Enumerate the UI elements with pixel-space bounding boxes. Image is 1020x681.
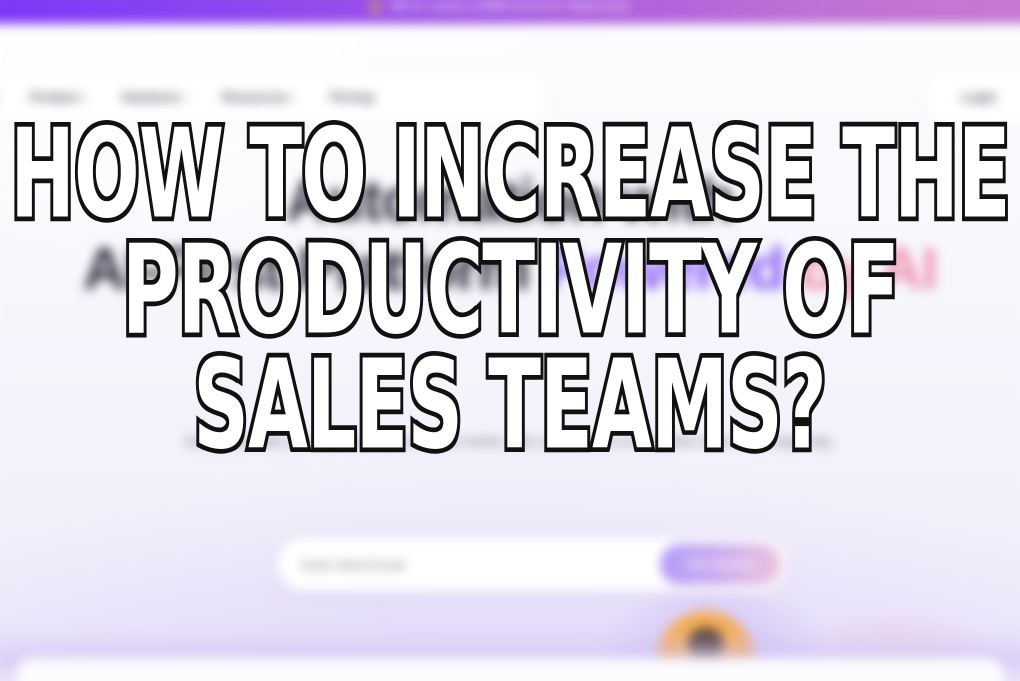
hero-heading-word: Automation [286,168,604,234]
nav-item-solutions[interactable]: Solutions ▾ [121,90,187,104]
sparkle-dot-icon [370,0,383,13]
login-button[interactable]: Login [926,69,1020,126]
hero-subheading: Easily automate your sales and go-to-mar… [102,430,918,454]
hero-heading-word: with [620,168,734,234]
email-capture-form: Get Started [277,538,787,591]
nav-item-pricing[interactable]: Pricing [330,90,373,104]
hero-heading-accent-violet: Powered [545,236,784,302]
nav-item-label: Solutions [121,90,179,104]
chevron-down-icon: ▾ [184,93,188,102]
blurred-webpage-background: We've raised a $25M Series B. Read more … [0,0,1020,681]
announcement-bar[interactable]: We've raised a $25M Series B. Read more … [0,0,1020,24]
nav-item-label: Pricing [330,90,373,104]
nav-item-resources[interactable]: Resources ▾ [222,90,295,104]
hero-heading: Automation with AI-First Platform Powere… [0,167,1020,304]
nav-item-label: Resources [222,90,287,104]
hero-heading-line-1: Automation with [0,167,1020,236]
product-screenshot-card [16,658,1003,681]
login-label: Login [962,90,997,104]
chevron-down-icon: ▾ [292,93,296,102]
thumbnail-canvas: We've raised a $25M Series B. Read more … [0,0,1020,681]
nav-item-label: Product [30,90,78,104]
arrow-right-icon: → [640,1,650,12]
announcement-text: We've raised a $25M Series B. Read more [391,0,630,12]
work-email-input[interactable] [302,557,660,572]
hero-heading-word: AI-First Platform [83,236,529,302]
chevron-down-icon: ▾ [83,93,87,102]
hero-heading-line-2: AI-First Platform Powered by AI [0,235,1020,304]
nav-item-product[interactable]: Product ▾ [30,90,86,104]
primary-navigation: LAN Product ▾ Solutions ▾ Resources ▾ Pr… [0,71,549,124]
get-started-button[interactable]: Get Started [660,544,782,585]
hero-heading-accent-pink: by AI [800,236,937,302]
